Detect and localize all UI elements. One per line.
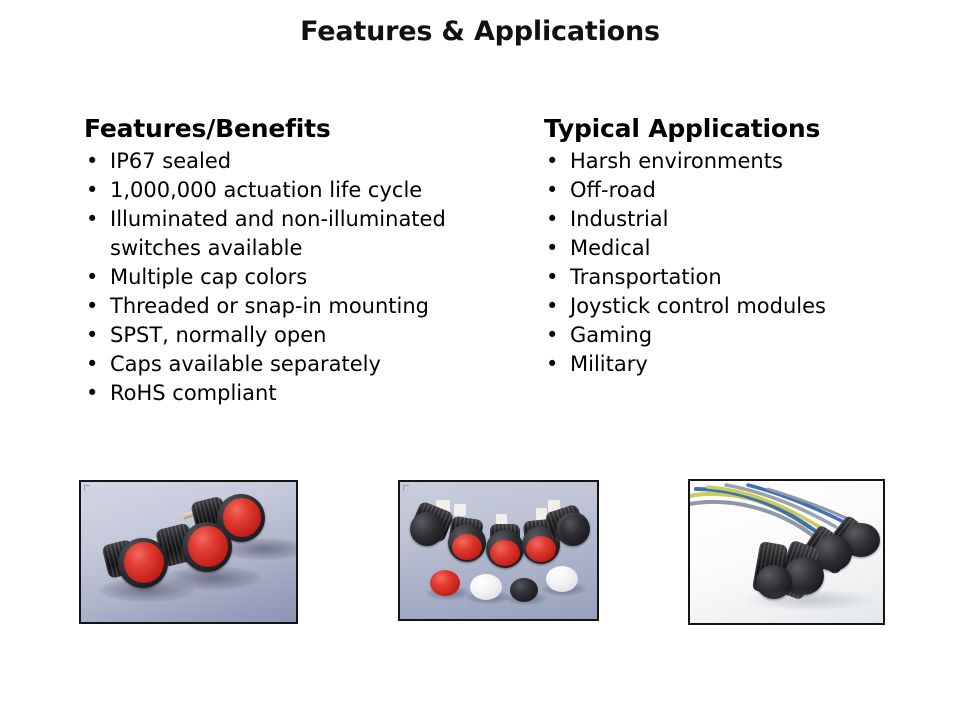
list-item: • Off-road	[544, 176, 944, 205]
photo-background	[81, 482, 296, 622]
loose-cap-black	[510, 578, 538, 602]
bullet-icon: •	[546, 292, 558, 321]
photo-corner-tick	[403, 485, 409, 491]
list-item: • Transportation	[544, 263, 944, 292]
list-item: • Multiple cap colors	[84, 263, 514, 292]
list-item: • Military	[544, 350, 944, 379]
bullet-icon: •	[546, 234, 558, 263]
switch-bezel	[410, 512, 444, 546]
loose-cap-white	[546, 566, 578, 592]
list-item-label: Multiple cap colors	[110, 263, 514, 292]
switch-cap-red	[188, 526, 228, 567]
page-title: Features & Applications	[0, 16, 960, 48]
switch-cap-red	[526, 536, 556, 562]
list-item-label: Joystick control modules	[570, 292, 944, 321]
list-item: • Caps available separately	[84, 350, 514, 379]
bullet-icon: •	[86, 147, 98, 176]
bullet-icon: •	[546, 350, 558, 379]
list-item-label: Off-road	[570, 176, 944, 205]
list-item-label: 1,000,000 actuation life cycle	[110, 176, 514, 205]
bullet-icon: •	[86, 292, 98, 321]
list-item: • SPST, normally open	[84, 321, 514, 350]
features-benefits-list: • IP67 sealed • 1,000,000 actuation life…	[84, 147, 514, 408]
bullet-icon: •	[546, 147, 558, 176]
bullet-icon: •	[86, 176, 98, 205]
switch-shadow	[744, 589, 874, 611]
switch-cap-black	[560, 515, 588, 543]
list-item-label: Industrial	[570, 205, 944, 234]
list-item: • Industrial	[544, 205, 944, 234]
bullet-icon: •	[86, 321, 98, 350]
list-item-label: Threaded or snap-in mounting	[110, 292, 514, 321]
product-photo-red-domed-pushbuttons	[79, 480, 298, 624]
product-photo-wired-switches	[688, 479, 885, 625]
product-photo-switch-assortment	[398, 480, 599, 621]
list-item: • Joystick control modules	[544, 292, 944, 321]
list-item-label: Harsh environments	[570, 147, 944, 176]
bullet-icon: •	[86, 263, 98, 292]
list-item-label: Military	[570, 350, 944, 379]
bullet-icon: •	[86, 205, 98, 234]
loose-cap-white	[470, 574, 502, 600]
features-benefits-heading: Features/Benefits	[84, 114, 514, 144]
list-item: • IP67 sealed	[84, 147, 514, 176]
list-item-label: Illuminated and non-illuminated switches…	[110, 205, 488, 263]
list-item: • Gaming	[544, 321, 944, 350]
photo-background	[400, 482, 597, 619]
list-item: • Threaded or snap-in mounting	[84, 292, 514, 321]
loose-cap-red	[430, 570, 460, 596]
features-benefits-column: Features/Benefits • IP67 sealed • 1,000,…	[84, 114, 514, 408]
typical-applications-heading: Typical Applications	[544, 114, 944, 144]
list-item-label: Caps available separately	[110, 350, 514, 379]
list-item: • RoHS compliant	[84, 379, 514, 408]
list-item-label: SPST, normally open	[110, 321, 514, 350]
switch-cap-red	[490, 540, 520, 566]
bullet-icon: •	[86, 350, 98, 379]
typical-applications-column: Typical Applications • Harsh environment…	[544, 114, 944, 379]
list-item: • 1,000,000 actuation life cycle	[84, 176, 514, 205]
switch-terminal	[454, 504, 466, 516]
typical-applications-list: • Harsh environments • Off-road • Indust…	[544, 147, 944, 379]
switch-cap-red	[223, 498, 261, 537]
bullet-icon: •	[86, 379, 98, 408]
list-item-label: Medical	[570, 234, 944, 263]
bullet-icon: •	[546, 321, 558, 350]
switch-cap-red	[452, 534, 482, 560]
bullet-icon: •	[546, 263, 558, 292]
list-item: • Harsh environments	[544, 147, 944, 176]
switch-cap-red	[124, 542, 164, 583]
list-item-label: Gaming	[570, 321, 944, 350]
list-item-label: RoHS compliant	[110, 379, 514, 408]
bullet-icon: •	[546, 176, 558, 205]
list-item-label: Transportation	[570, 263, 944, 292]
list-item-label: IP67 sealed	[110, 147, 514, 176]
switch-shadow	[221, 538, 298, 560]
photo-corner-tick	[84, 485, 90, 491]
list-item: • Medical	[544, 234, 944, 263]
list-item: • Illuminated and non-illuminated switch…	[84, 205, 514, 263]
photo-background	[690, 481, 883, 623]
bullet-icon: •	[546, 205, 558, 234]
